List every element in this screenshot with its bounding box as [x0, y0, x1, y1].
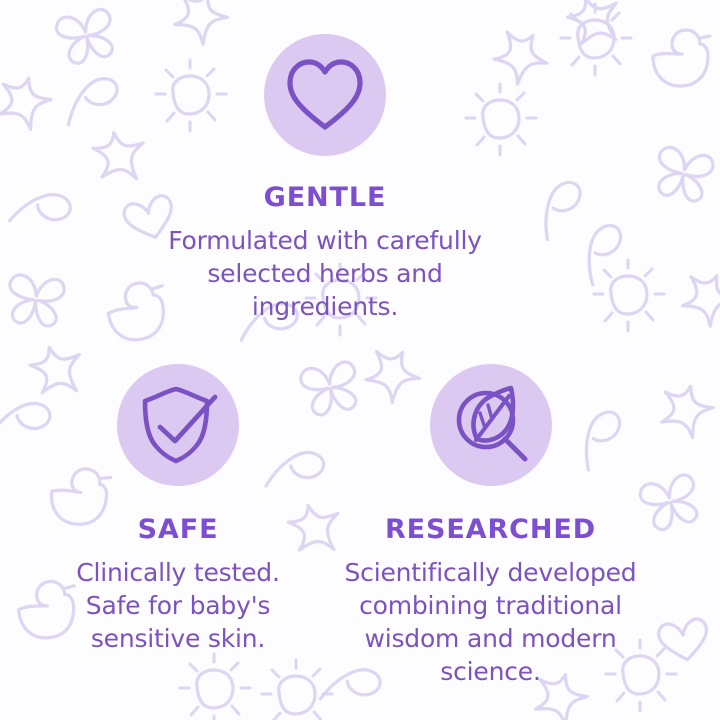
- features-content: GENTLE Formulated with carefully selecte…: [0, 0, 720, 720]
- feature-gentle-title: GENTLE: [165, 184, 485, 211]
- feature-researched: RESEARCHED Scientifically developed comb…: [338, 364, 643, 688]
- gentle-icon-badge: [264, 34, 386, 156]
- feature-researched-description: Scientifically developed combining tradi…: [338, 556, 643, 688]
- feature-safe-description: Clinically tested. Safe for baby's sensi…: [38, 556, 318, 655]
- shield-check-icon: [135, 385, 221, 465]
- heart-icon: [285, 59, 365, 131]
- feature-researched-title: RESEARCHED: [338, 516, 643, 543]
- feature-gentle: GENTLE Formulated with carefully selecte…: [165, 34, 485, 323]
- safe-icon-badge: [117, 364, 239, 486]
- researched-icon-badge: [430, 364, 552, 486]
- feature-gentle-description: Formulated with carefully selected herbs…: [165, 224, 485, 323]
- feature-safe: SAFE Clinically tested. Safe for baby's …: [38, 364, 318, 655]
- feature-safe-title: SAFE: [38, 516, 318, 543]
- feature-infographic: GENTLE Formulated with carefully selecte…: [0, 0, 720, 720]
- leaf-magnifier-icon: [449, 383, 533, 467]
